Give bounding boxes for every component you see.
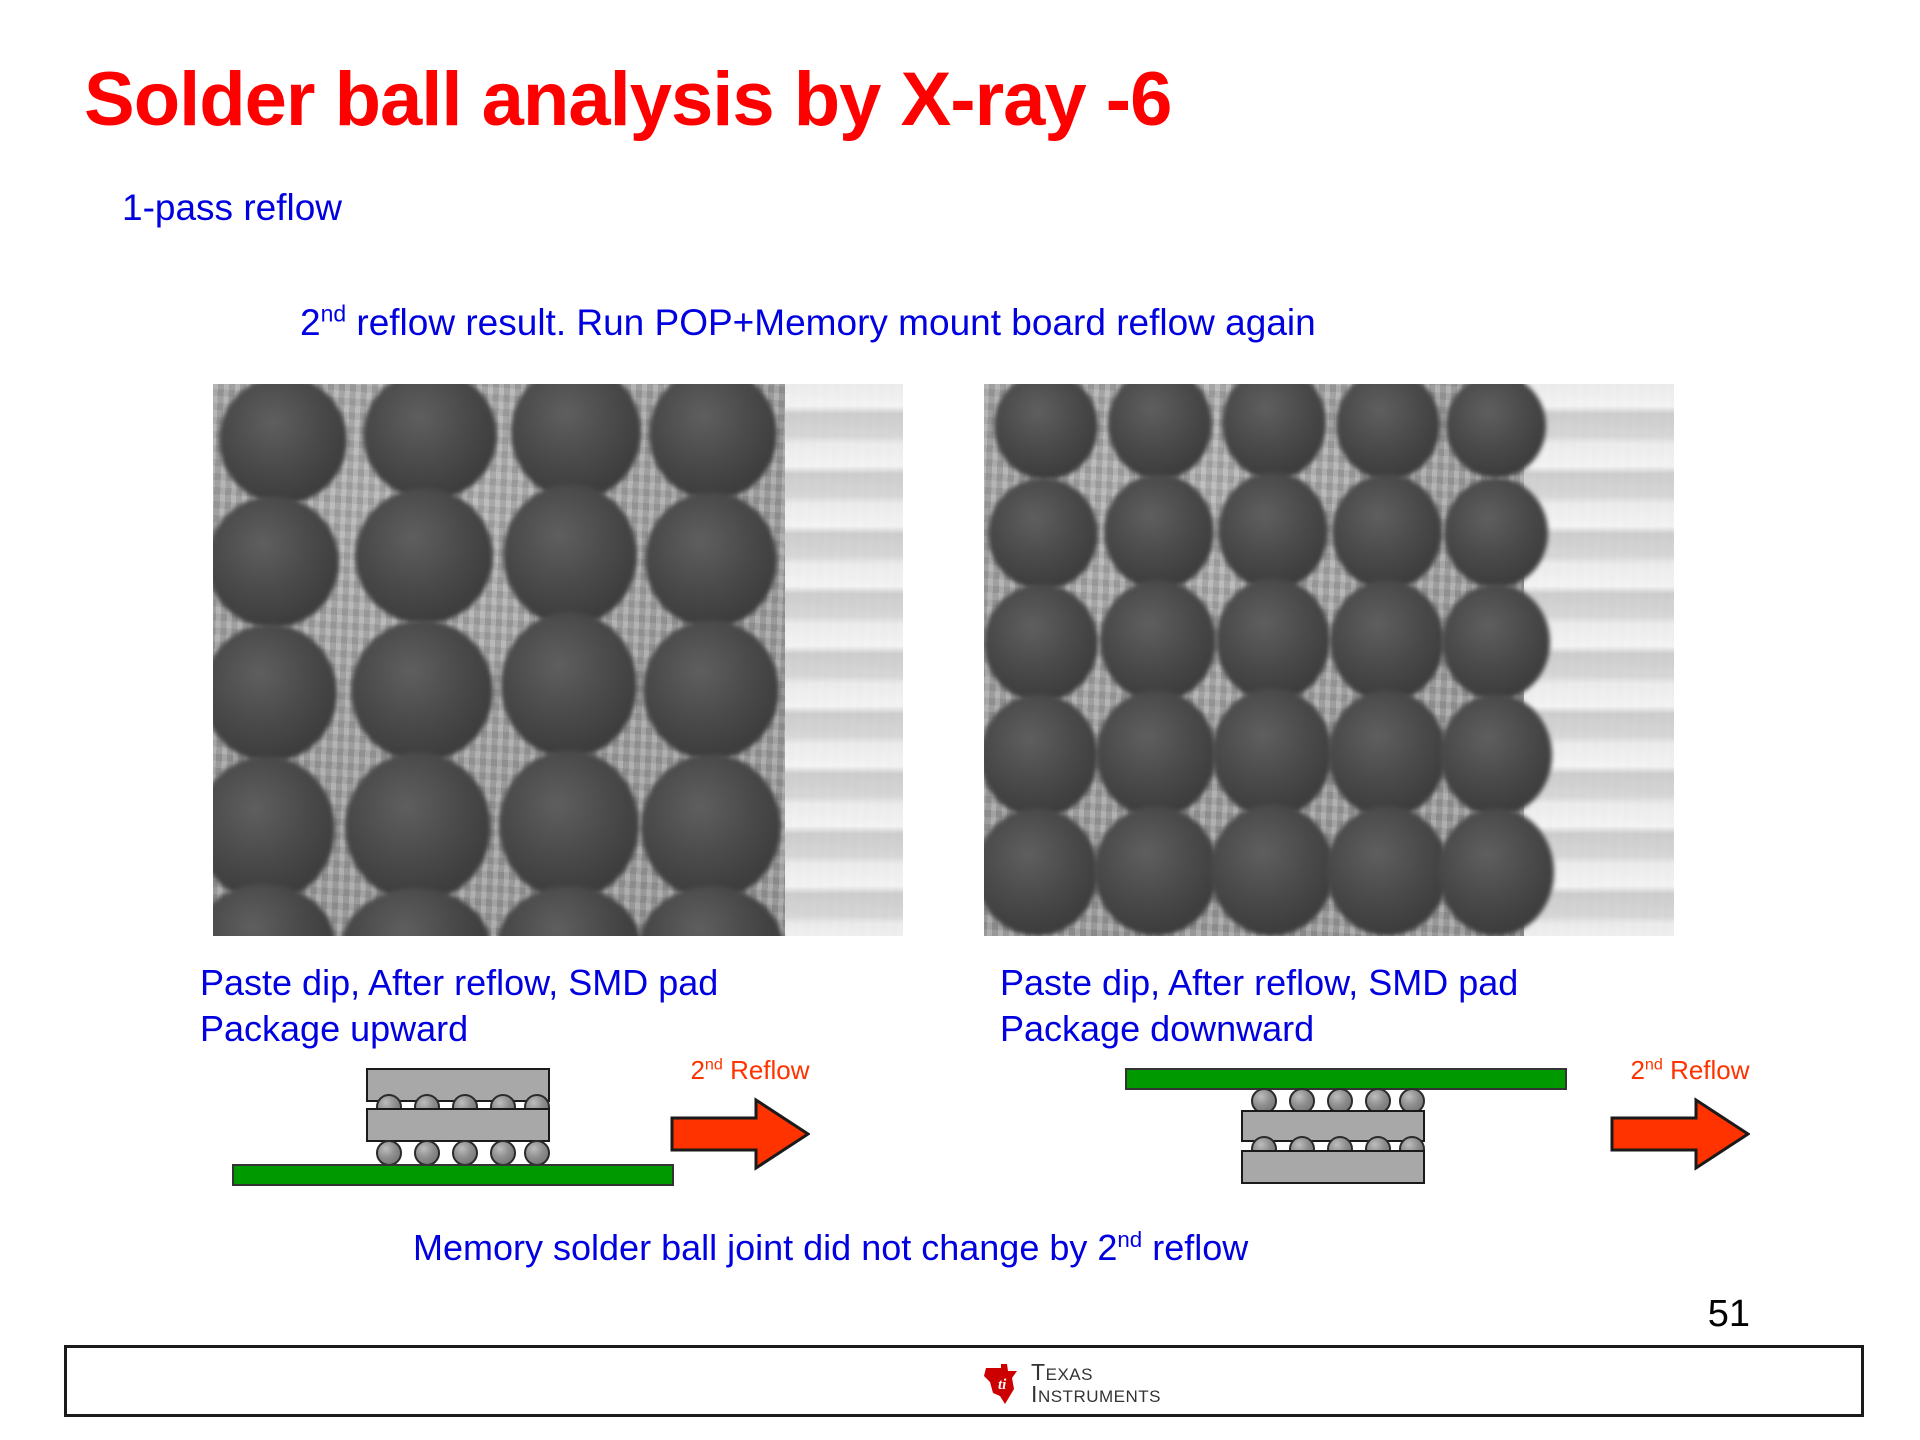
cross-section-diagram-right bbox=[1125, 1068, 1575, 1188]
xray-pad-strip-left bbox=[785, 384, 903, 936]
pcb-board bbox=[232, 1164, 674, 1186]
arrow-wrap-left bbox=[670, 1096, 830, 1177]
ti-wordmark: TTEXASEXAS INSTRUMENTS bbox=[1031, 1362, 1161, 1406]
xray-image-right bbox=[984, 384, 1674, 936]
caption-right-line2: Package downward bbox=[1000, 1008, 1314, 1049]
solder-ball bbox=[345, 752, 491, 902]
solder-ball bbox=[1210, 804, 1334, 936]
reflow-label-left-ordinal: nd bbox=[705, 1055, 723, 1073]
subtitle-1pass-reflow: 1-pass reflow bbox=[122, 187, 342, 229]
page-number: 51 bbox=[1708, 1293, 1750, 1336]
solder-ball bbox=[988, 478, 1098, 590]
caption-left: Paste dip, After reflow, SMD padPackage … bbox=[200, 960, 920, 1052]
conclusion-rest: reflow bbox=[1142, 1227, 1248, 1268]
cross-section-diagram-left bbox=[232, 1068, 682, 1188]
reflow-arrow-group-left: 2nd Reflow bbox=[670, 1055, 830, 1177]
solder-ball bbox=[1216, 578, 1330, 702]
solder-ball bbox=[641, 754, 781, 900]
reflow-label-right-prefix: 2 bbox=[1630, 1055, 1644, 1085]
solder-ball bbox=[351, 620, 493, 762]
solder-ball bbox=[501, 612, 637, 758]
headline-rest: reflow result. Run POP+Memory mount boar… bbox=[346, 302, 1316, 343]
headline-prefix: 2 bbox=[300, 302, 321, 343]
arrow-wrap-right bbox=[1610, 1096, 1770, 1177]
solder-ball bbox=[1328, 690, 1446, 818]
solder-ball bbox=[1094, 806, 1218, 936]
solder-ball bbox=[984, 694, 1098, 818]
solder-ball bbox=[1440, 694, 1552, 816]
reflow-label-left-prefix: 2 bbox=[690, 1055, 704, 1085]
solder-ball bbox=[1212, 688, 1332, 818]
right-arrow-icon bbox=[1610, 1096, 1750, 1172]
caption-left-line2: Package upward bbox=[200, 1008, 468, 1049]
solder-ball bbox=[1444, 478, 1548, 588]
right-arrow-icon bbox=[670, 1096, 810, 1172]
conclusion-ordinal: nd bbox=[1117, 1227, 1142, 1252]
reflow-label-left-rest: Reflow bbox=[723, 1055, 810, 1085]
headline-second-reflow-result: 2nd reflow result. Run POP+Memory mount … bbox=[300, 302, 1316, 344]
caption-right: Paste dip, After reflow, SMD padPackage … bbox=[1000, 960, 1740, 1052]
solder-ball bbox=[1442, 584, 1550, 700]
solder-ball bbox=[1332, 474, 1442, 590]
solder-ball bbox=[1438, 808, 1554, 936]
reflow-label-left: 2nd Reflow bbox=[670, 1055, 830, 1086]
solder-ball bbox=[1218, 472, 1328, 590]
reflow-label-right-ordinal: nd bbox=[1645, 1055, 1663, 1073]
bga-ball bbox=[490, 1140, 516, 1166]
bga-ball bbox=[414, 1140, 440, 1166]
ti-brand-line2: INSTRUMENTS bbox=[1031, 1384, 1161, 1406]
package-bottom bbox=[366, 1108, 550, 1142]
package-lower bbox=[1241, 1150, 1425, 1184]
caption-left-line1: Paste dip, After reflow, SMD pad bbox=[200, 962, 718, 1003]
solder-ball bbox=[984, 584, 1098, 702]
solder-ball bbox=[213, 496, 339, 628]
conclusion-prefix: Memory solder ball joint did not change … bbox=[413, 1227, 1117, 1268]
solder-ball bbox=[1100, 580, 1216, 702]
conclusion-text: Memory solder ball joint did not change … bbox=[413, 1227, 1248, 1269]
texas-instruments-logo: ti TTEXASEXAS INSTRUMENTS bbox=[981, 1362, 1161, 1406]
bga-ball bbox=[524, 1140, 550, 1166]
solder-ball bbox=[1096, 690, 1216, 818]
footer-bar: ti TTEXASEXAS INSTRUMENTS bbox=[64, 1345, 1864, 1417]
solder-ball bbox=[1104, 474, 1214, 590]
reflow-arrow-group-right: 2nd Reflow bbox=[1610, 1055, 1770, 1177]
ti-texas-map-icon: ti bbox=[981, 1362, 1021, 1406]
solder-ball bbox=[499, 750, 639, 900]
reflow-label-right-rest: Reflow bbox=[1663, 1055, 1750, 1085]
solder-ball bbox=[643, 620, 779, 760]
solder-ball bbox=[503, 484, 637, 626]
page-title: Solder ball analysis by X-ray -6 bbox=[84, 62, 1684, 138]
solder-ball bbox=[355, 488, 493, 624]
solder-ball bbox=[1326, 806, 1448, 936]
bga-ball bbox=[452, 1140, 478, 1166]
headline-ordinal-suffix: nd bbox=[321, 301, 347, 327]
reflow-label-right: 2nd Reflow bbox=[1610, 1055, 1770, 1086]
ti-brand-line1: TTEXASEXAS bbox=[1031, 1362, 1161, 1384]
solder-ball bbox=[645, 492, 777, 628]
caption-right-line1: Paste dip, After reflow, SMD pad bbox=[1000, 962, 1518, 1003]
svg-text:ti: ti bbox=[998, 1377, 1007, 1393]
xray-image-left bbox=[213, 384, 903, 936]
bga-ball bbox=[376, 1140, 402, 1166]
solder-ball bbox=[1330, 580, 1444, 702]
pcb-board bbox=[1125, 1068, 1567, 1090]
